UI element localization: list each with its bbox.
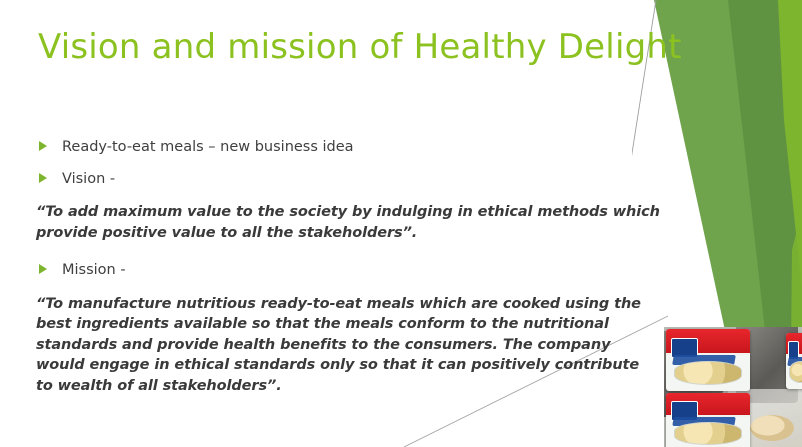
mission-statement-text: “To manufacture nutritious ready-to-eat … — [36, 294, 658, 397]
vision-statement-text: “To add maximum value to the society by … — [36, 202, 661, 243]
triangle-bullet-icon — [36, 138, 62, 151]
facet-shape-bright — [778, 0, 802, 290]
bullet-label: Vision - — [62, 170, 661, 188]
photo-package-far-right — [786, 333, 802, 389]
photo-package-bottom — [666, 393, 750, 447]
triangle-bullet-icon — [36, 170, 62, 183]
photo-food-right — [750, 415, 794, 441]
list-item: Mission - — [36, 261, 661, 279]
photo-package-top — [666, 329, 750, 391]
list-item: Vision - — [36, 170, 661, 188]
presentation-slide: Vision and mission of Healthy Delight Re… — [0, 0, 802, 447]
bullet-label: Mission - — [62, 261, 661, 279]
triangle-bullet-icon — [36, 261, 62, 274]
slide-body: Ready-to-eat meals – new business idea V… — [36, 138, 661, 396]
list-item: Ready-to-eat meals – new business idea — [36, 138, 661, 156]
page-title: Vision and mission of Healthy Delight — [38, 28, 638, 67]
bullet-label: Ready-to-eat meals – new business idea — [62, 138, 661, 156]
product-photo — [664, 327, 802, 447]
